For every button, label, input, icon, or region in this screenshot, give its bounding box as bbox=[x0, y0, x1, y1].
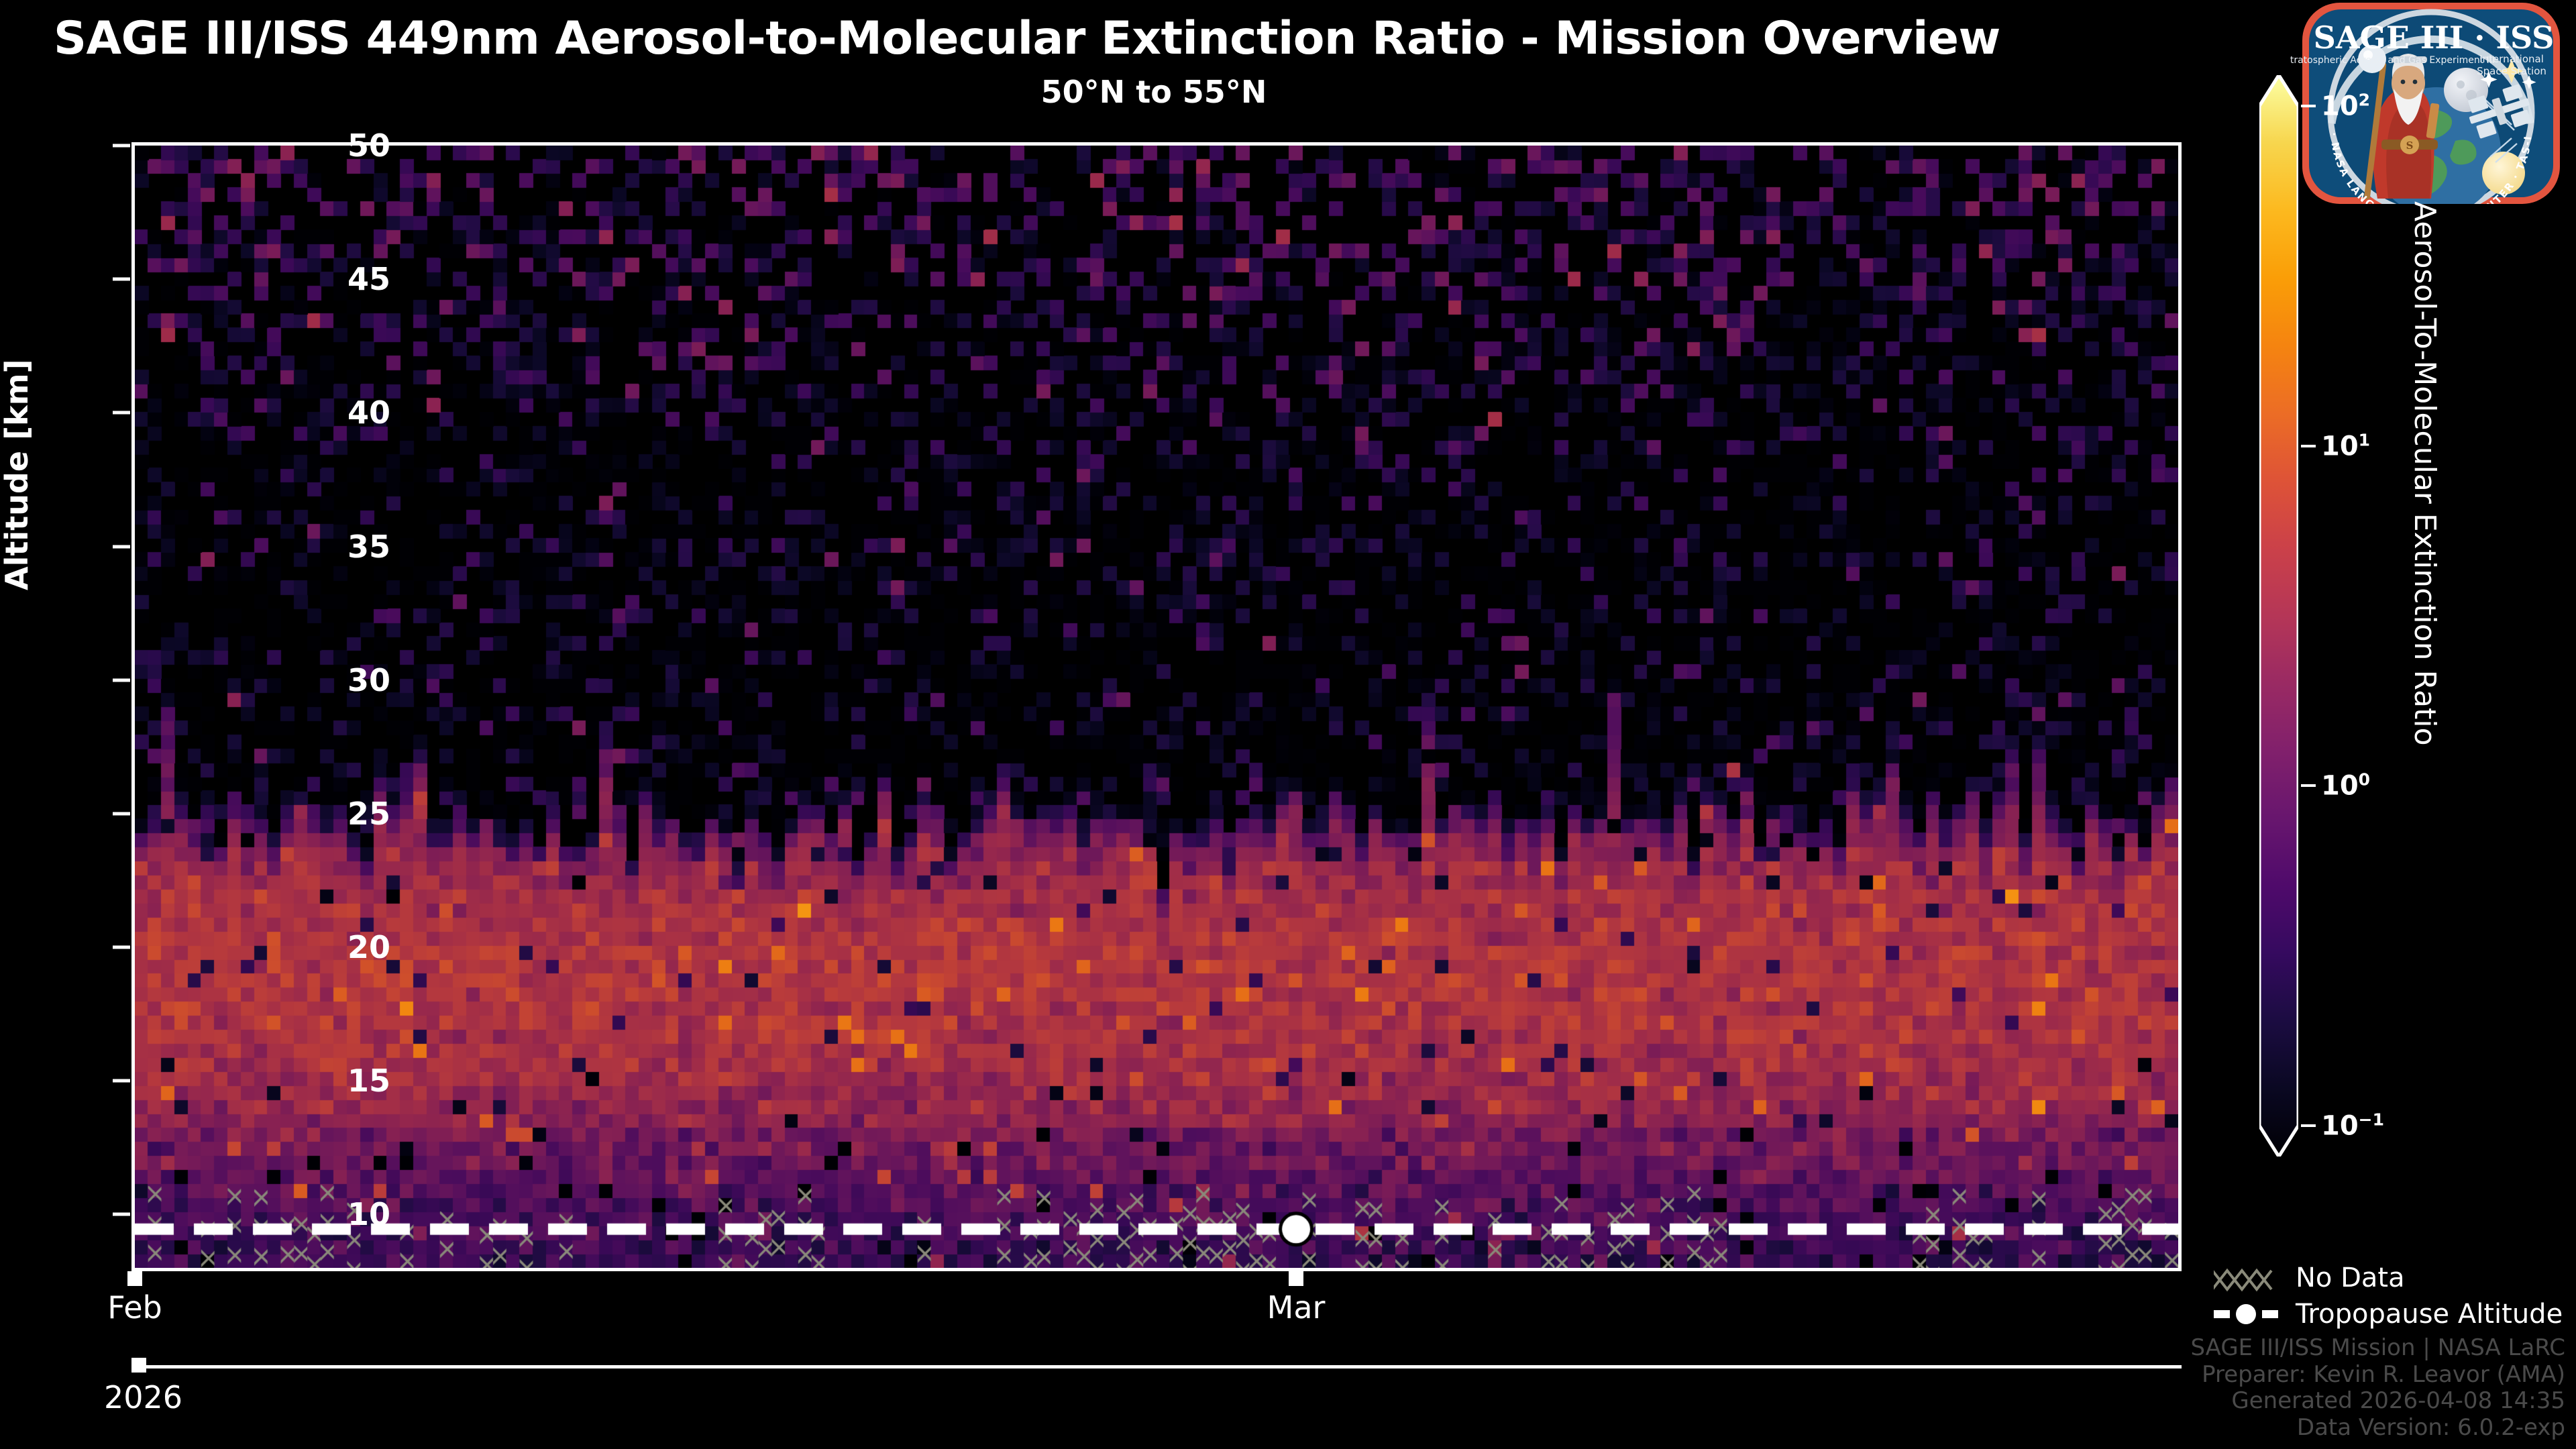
svg-text:SAGE III · ISS: SAGE III · ISS bbox=[2314, 19, 2555, 56]
footer-credits: SAGE III/ISS Mission | NASA LaRC Prepare… bbox=[2190, 1335, 2565, 1441]
y-axis-tick-mark bbox=[113, 144, 130, 148]
tropopause-line-icon bbox=[2214, 1300, 2281, 1328]
y-axis-tick-label: 20 bbox=[310, 929, 390, 965]
colorbar-tick-mark bbox=[2301, 1124, 2316, 1127]
page-title: SAGE III/ISS 449nm Aerosol-to-Molecular … bbox=[54, 12, 2281, 65]
y-axis-tick-mark bbox=[113, 278, 130, 281]
x-axis-tick-label: Mar bbox=[1267, 1289, 1326, 1326]
y-axis-tick-mark bbox=[113, 545, 130, 548]
colorbar-tick-label: 102 bbox=[2321, 90, 2370, 121]
y-axis-tick-mark bbox=[113, 946, 130, 949]
y-axis-tick-label: 25 bbox=[310, 796, 390, 832]
x-axis-minor-tick bbox=[131, 1358, 146, 1373]
y-axis-tick-label: 35 bbox=[310, 529, 390, 565]
footer-line-preparer: Preparer: Kevin R. Leavor (AMA) bbox=[2190, 1362, 2565, 1388]
y-axis-tick-label: 10 bbox=[310, 1196, 390, 1232]
legend-label-tropopause: Tropopause Altitude bbox=[2296, 1299, 2563, 1330]
y-axis-tick-mark bbox=[113, 812, 130, 815]
svg-text:International: International bbox=[2479, 53, 2544, 65]
colorbar-tick-label: 100 bbox=[2321, 770, 2370, 802]
y-axis-tick-mark bbox=[113, 1213, 130, 1216]
legend-label-no-data: No Data bbox=[2296, 1263, 2405, 1293]
legend-item-tropopause: Tropopause Altitude bbox=[2214, 1296, 2563, 1332]
legend-item-no-data: No Data bbox=[2214, 1260, 2563, 1296]
x-axis-tick-label: Feb bbox=[107, 1289, 162, 1326]
legend: No Data Tropopause Altitude bbox=[2214, 1260, 2563, 1332]
colorbar-label: Aerosol-To-Molecular Extinction Ratio bbox=[2408, 201, 2442, 746]
x-axis-tick-mark bbox=[127, 1271, 142, 1286]
y-axis-tick-label: 40 bbox=[310, 394, 390, 431]
svg-text:S: S bbox=[2406, 140, 2414, 152]
x-axis-year-label: 2026 bbox=[104, 1379, 182, 1415]
x-axis-minor-rule bbox=[131, 1365, 2182, 1368]
colorbar-tick-mark bbox=[2301, 105, 2316, 107]
colorbar-tick-mark bbox=[2301, 445, 2316, 447]
tropopause-altitude-line bbox=[135, 146, 2178, 1268]
y-axis-label: Altitude [km] bbox=[0, 359, 35, 590]
y-axis-tick-mark bbox=[113, 411, 130, 415]
x-axis-tick-mark bbox=[1289, 1271, 1303, 1286]
y-axis-tick-label: 30 bbox=[310, 662, 390, 698]
no-data-hatch-icon bbox=[2214, 1264, 2281, 1292]
colorbar[interactable]: 10−1100101102 bbox=[2259, 75, 2298, 1157]
page-subtitle: 50°N to 55°N bbox=[0, 74, 2308, 110]
y-axis-tick-mark bbox=[113, 1079, 130, 1083]
footer-line-generated: Generated 2026-04-08 14:35 bbox=[2190, 1388, 2565, 1414]
colorbar-tick-label: 101 bbox=[2321, 430, 2370, 462]
y-axis-tick-label: 15 bbox=[310, 1063, 390, 1099]
svg-text:Stratospheric Aerosol and Gas: Stratospheric Aerosol and Gas Experiment… bbox=[2290, 55, 2495, 66]
y-axis-tick-mark bbox=[113, 678, 130, 682]
colorbar-tick-label: 10−1 bbox=[2321, 1110, 2384, 1141]
y-axis-tick-label: 50 bbox=[310, 127, 390, 164]
colorbar-tick-mark bbox=[2301, 784, 2316, 787]
y-axis-tick-label: 45 bbox=[310, 261, 390, 297]
footer-line-mission: SAGE III/ISS Mission | NASA LaRC bbox=[2190, 1335, 2565, 1361]
heatmap-plot-area[interactable] bbox=[131, 142, 2182, 1271]
footer-line-version: Data Version: 6.0.2-exp bbox=[2190, 1415, 2565, 1441]
svg-text:Space Station: Space Station bbox=[2477, 65, 2546, 77]
